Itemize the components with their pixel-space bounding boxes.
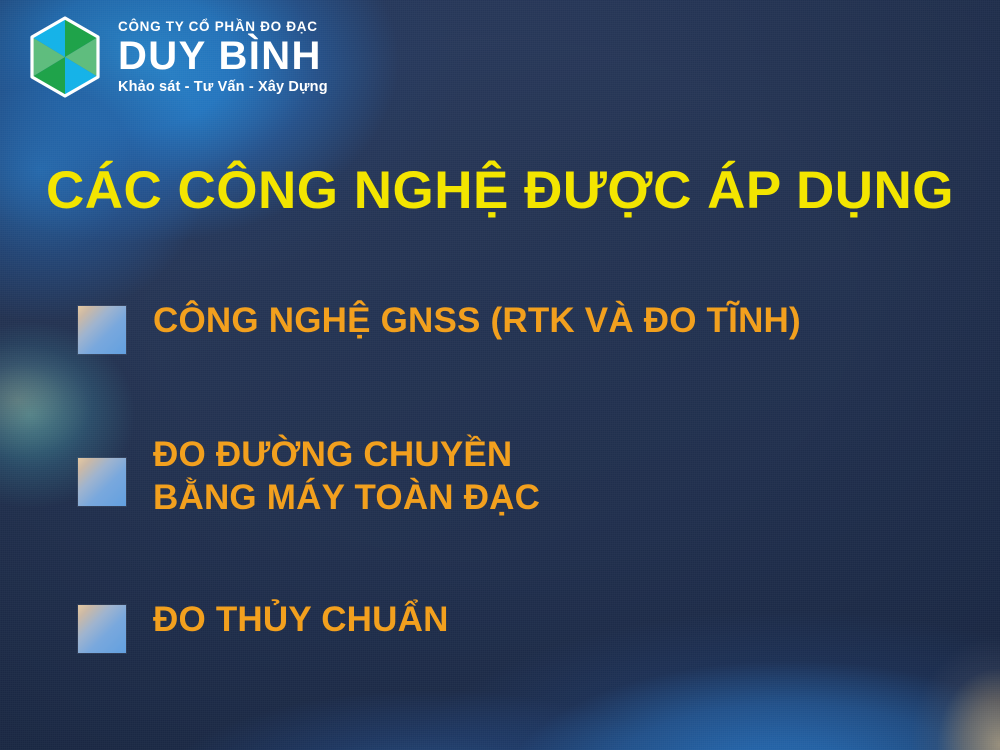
list-item: ĐO ĐƯỜNG CHUYỀN BẰNG MÁY TOÀN ĐẠC — [78, 434, 978, 519]
logo-company-name: DUY BÌNH — [118, 35, 328, 77]
gradient-square-marker-icon — [78, 605, 126, 653]
company-logo: CÔNG TY CỔ PHẦN ĐO ĐẠC DUY BÌNH Khảo sát… — [26, 14, 328, 100]
logo-company-prefix: CÔNG TY CỔ PHẦN ĐO ĐẠC — [118, 20, 328, 35]
bullet-label-traverse: ĐO ĐƯỜNG CHUYỀN BẰNG MÁY TOÀN ĐẠC — [153, 434, 540, 519]
list-item: CÔNG NGHỆ GNSS (RTK VÀ ĐO TĨNH) — [78, 300, 978, 354]
hexagon-logo-icon — [26, 14, 104, 100]
gradient-square-marker-icon — [78, 458, 126, 506]
presentation-slide: CÔNG TY CỔ PHẦN ĐO ĐẠC DUY BÌNH Khảo sát… — [0, 0, 1000, 750]
list-item: ĐO THỦY CHUẨN — [78, 599, 978, 653]
bullet-label-leveling: ĐO THỦY CHUẨN — [153, 599, 449, 642]
logo-text-block: CÔNG TY CỔ PHẦN ĐO ĐẠC DUY BÌNH Khảo sát… — [118, 18, 328, 97]
bullet-label-gnss: CÔNG NGHỆ GNSS (RTK VÀ ĐO TĨNH) — [153, 300, 801, 343]
gradient-square-marker-icon — [78, 306, 126, 354]
bullet-list: CÔNG NGHỆ GNSS (RTK VÀ ĐO TĨNH) ĐO ĐƯỜNG… — [78, 300, 978, 653]
logo-tagline: Khảo sát - Tư Vấn - Xây Dựng — [118, 80, 328, 96]
slide-title: CÁC CÔNG NGHỆ ĐƯỢC ÁP DỤNG — [0, 162, 1000, 219]
